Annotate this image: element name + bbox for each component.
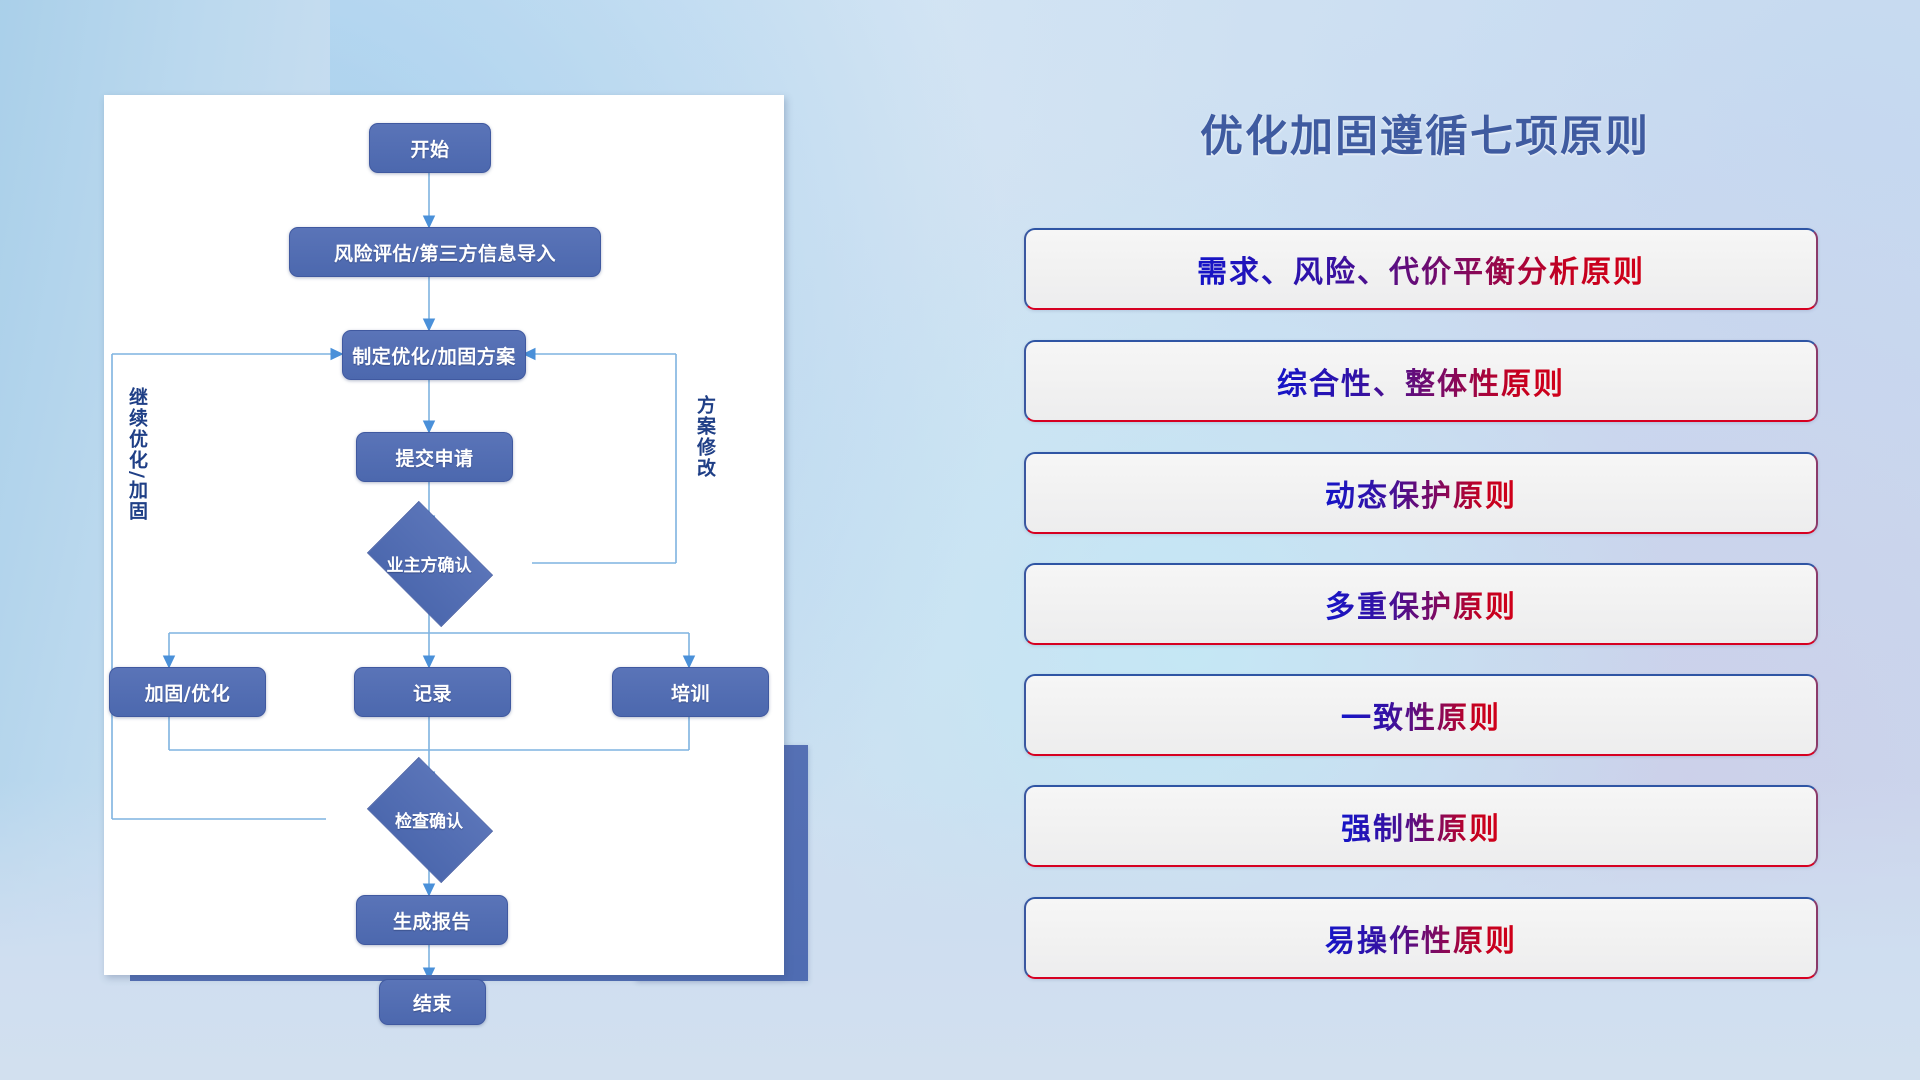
flow-node-record[interactable]: 记录 — [354, 667, 511, 717]
principle-item[interactable]: 一致性原则 — [1024, 674, 1818, 756]
flow-node-generate-report[interactable]: 生成报告 — [356, 895, 508, 945]
panel-title: 优化加固遵循七项原则 — [1010, 102, 1840, 164]
flow-node-owner-confirm[interactable]: 业主方确认 — [326, 527, 532, 599]
flow-node-risk-assessment[interactable]: 风险评估/第三方信息导入 — [289, 227, 601, 277]
flow-node-reinforce-optimize[interactable]: 加固/优化 — [109, 667, 266, 717]
edge-label-continue-optimize: 继续优化/加固 — [126, 387, 146, 557]
principle-item[interactable]: 多重保护原则 — [1024, 563, 1818, 645]
flow-node-training[interactable]: 培训 — [612, 667, 769, 717]
principle-label: 易操作性原则 — [1325, 916, 1517, 960]
principle-item[interactable]: 易操作性原则 — [1024, 897, 1818, 979]
principle-label: 动态保护原则 — [1325, 471, 1517, 515]
flow-node-make-plan[interactable]: 制定优化/加固方案 — [342, 330, 526, 380]
flow-node-start[interactable]: 开始 — [369, 123, 491, 173]
principle-label: 多重保护原则 — [1325, 582, 1517, 626]
edge-label-plan-revision: 方案修改 — [694, 395, 714, 525]
principle-label: 需求、风险、代价平衡分析原则 — [1197, 247, 1645, 291]
principle-item[interactable]: 综合性、整体性原则 — [1024, 340, 1818, 422]
flow-node-inspection-confirm[interactable]: 检查确认 — [326, 783, 532, 855]
flow-node-submit-application[interactable]: 提交申请 — [356, 432, 513, 482]
principles-panel: 优化加固遵循七项原则 需求、风险、代价平衡分析原则 综合性、整体性原则 动态保护… — [1010, 80, 1840, 1020]
principle-item[interactable]: 需求、风险、代价平衡分析原则 — [1024, 228, 1818, 310]
principle-label: 综合性、整体性原则 — [1277, 359, 1565, 403]
principle-item[interactable]: 强制性原则 — [1024, 785, 1818, 867]
flow-node-end[interactable]: 结束 — [379, 979, 486, 1025]
principle-label: 一致性原则 — [1341, 693, 1501, 737]
principle-label: 强制性原则 — [1341, 804, 1501, 848]
flowchart-card: 业主方确认 检查确认 开始 风险评估/第三方信息导入 制定优化/加固方案 提交申… — [104, 95, 784, 975]
slide-background: 业主方确认 检查确认 开始 风险评估/第三方信息导入 制定优化/加固方案 提交申… — [0, 0, 1920, 1080]
principle-item[interactable]: 动态保护原则 — [1024, 452, 1818, 534]
